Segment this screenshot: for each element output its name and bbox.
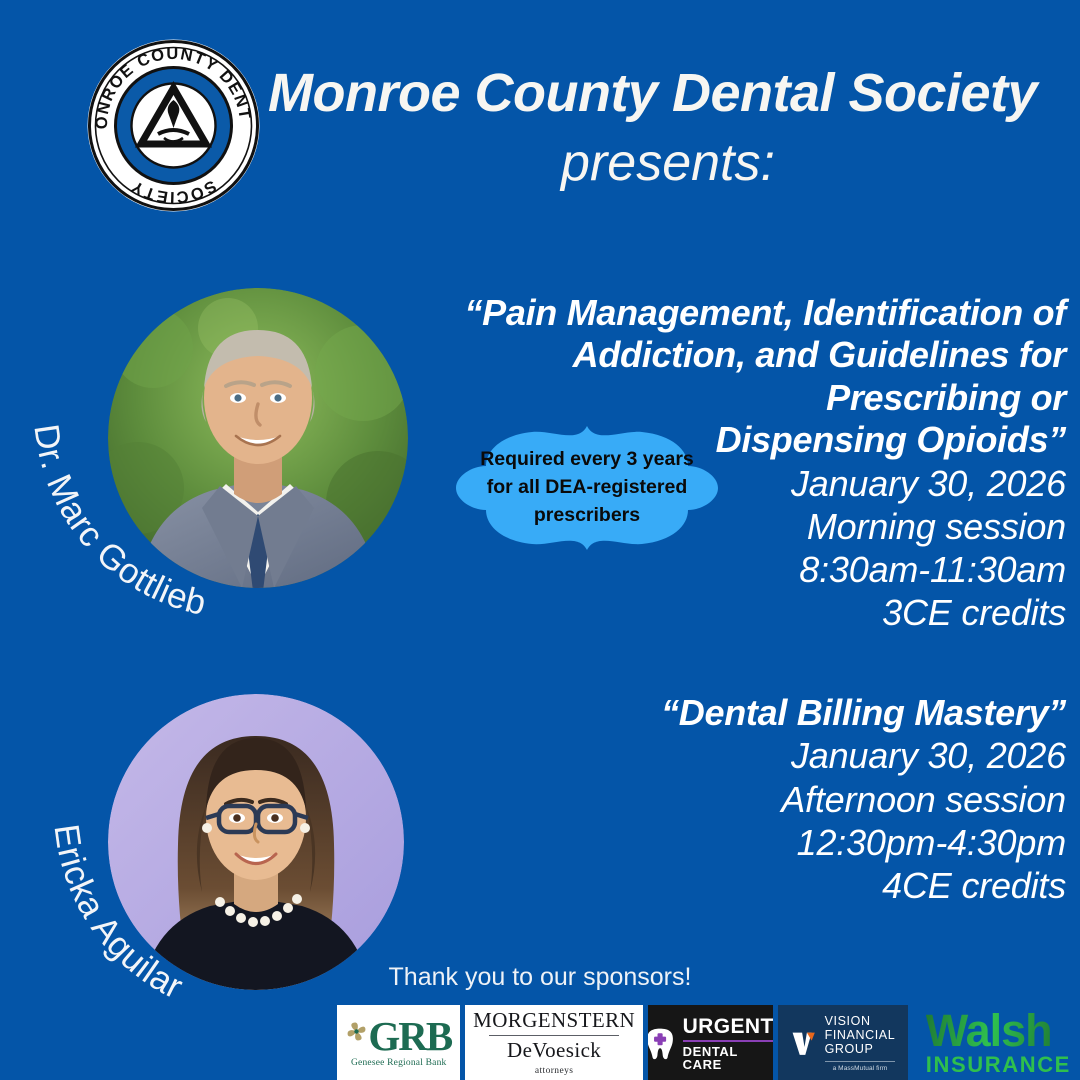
dea-requirement-badge: Required every 3 years for all DEA-regis… bbox=[436, 424, 738, 552]
session-1-time: 8:30am-11:30am bbox=[400, 548, 1066, 591]
tooth-with-cross-icon bbox=[648, 1026, 676, 1060]
presents-label: presents: bbox=[268, 133, 1068, 193]
udc-line-2: DENTAL CARE bbox=[683, 1045, 774, 1071]
pinwheel-icon bbox=[346, 1021, 367, 1042]
badge-text: Required every 3 years for all DEA-regis… bbox=[436, 424, 738, 552]
session-2-details: “Dental Billing Mastery” January 30, 202… bbox=[620, 692, 1066, 907]
badge-line-3: prescribers bbox=[534, 502, 640, 530]
session-1-title-line-2: Addiction, and Guidelines for Prescribin… bbox=[400, 334, 1066, 419]
udc-line-1: URGENT bbox=[683, 1016, 774, 1037]
vfg-tagline: a MassMutual firm bbox=[825, 1065, 896, 1072]
speaker-photo-aguilar bbox=[108, 694, 404, 990]
walsh-subline: INSURANCE bbox=[926, 1055, 1071, 1076]
sponsors-label: Thank you to our sponsors! bbox=[0, 963, 1080, 992]
sponsor-logo-urgent-dental-care[interactable]: URGENT DENTAL CARE bbox=[648, 1005, 773, 1080]
event-flyer: MONROE COUNTY DENTAL SOCIETY Monroe Coun… bbox=[0, 0, 1080, 1080]
session-2-time: 12:30pm-4:30pm bbox=[620, 821, 1066, 864]
speaker-photo-gottlieb bbox=[108, 288, 408, 588]
mdv-line-1: MORGENSTERN bbox=[473, 1010, 635, 1031]
sponsor-logo-morgenstern-devoesick[interactable]: MORGENSTERN DeVoesick attorneys bbox=[465, 1005, 642, 1080]
badge-line-1: Required every 3 years bbox=[480, 446, 694, 474]
session-1-title-line-1: “Pain Management, Identification of bbox=[400, 292, 1066, 334]
page-title: Monroe County Dental Society bbox=[268, 62, 1068, 124]
session-1-credits: 3CE credits bbox=[400, 591, 1066, 634]
sponsor-logo-vision-financial-group[interactable]: VISION FINANCIAL GROUP a MassMutual firm bbox=[778, 1005, 907, 1080]
session-2-title: “Dental Billing Mastery” bbox=[620, 692, 1066, 734]
mdv-line-2: DeVoesick bbox=[473, 1040, 635, 1061]
sponsor-logo-grb[interactable]: GRB Genesee Regional Bank bbox=[337, 1005, 460, 1080]
session-2-date: January 30, 2026 bbox=[620, 734, 1066, 777]
divider bbox=[825, 1061, 896, 1062]
grb-tagline: Genesee Regional Bank bbox=[351, 1059, 446, 1069]
monroe-county-dental-society-seal-icon: MONROE COUNTY DENTAL SOCIETY bbox=[86, 38, 261, 213]
divider bbox=[683, 1040, 774, 1042]
vfg-line-3: GROUP bbox=[825, 1042, 896, 1056]
session-2-session-label: Afternoon session bbox=[620, 778, 1066, 821]
mdv-line-3: attorneys bbox=[473, 1067, 635, 1077]
divider bbox=[489, 1035, 619, 1036]
badge-line-2: for all DEA-registered bbox=[487, 474, 687, 502]
vision-v-icon bbox=[791, 1029, 818, 1057]
sponsor-logo-walsh-insurance[interactable]: Walsh INSURANCE bbox=[913, 1005, 1080, 1080]
grb-wordmark: GRB bbox=[368, 1018, 451, 1055]
vfg-line-1: VISION bbox=[825, 1014, 896, 1028]
walsh-wordmark: Walsh bbox=[926, 1010, 1071, 1053]
session-2-credits: 4CE credits bbox=[620, 864, 1066, 907]
sponsor-logo-strip: GRB Genesee Regional Bank MORGENSTERN De… bbox=[337, 1005, 1080, 1080]
vfg-line-2: FINANCIAL bbox=[825, 1028, 896, 1042]
